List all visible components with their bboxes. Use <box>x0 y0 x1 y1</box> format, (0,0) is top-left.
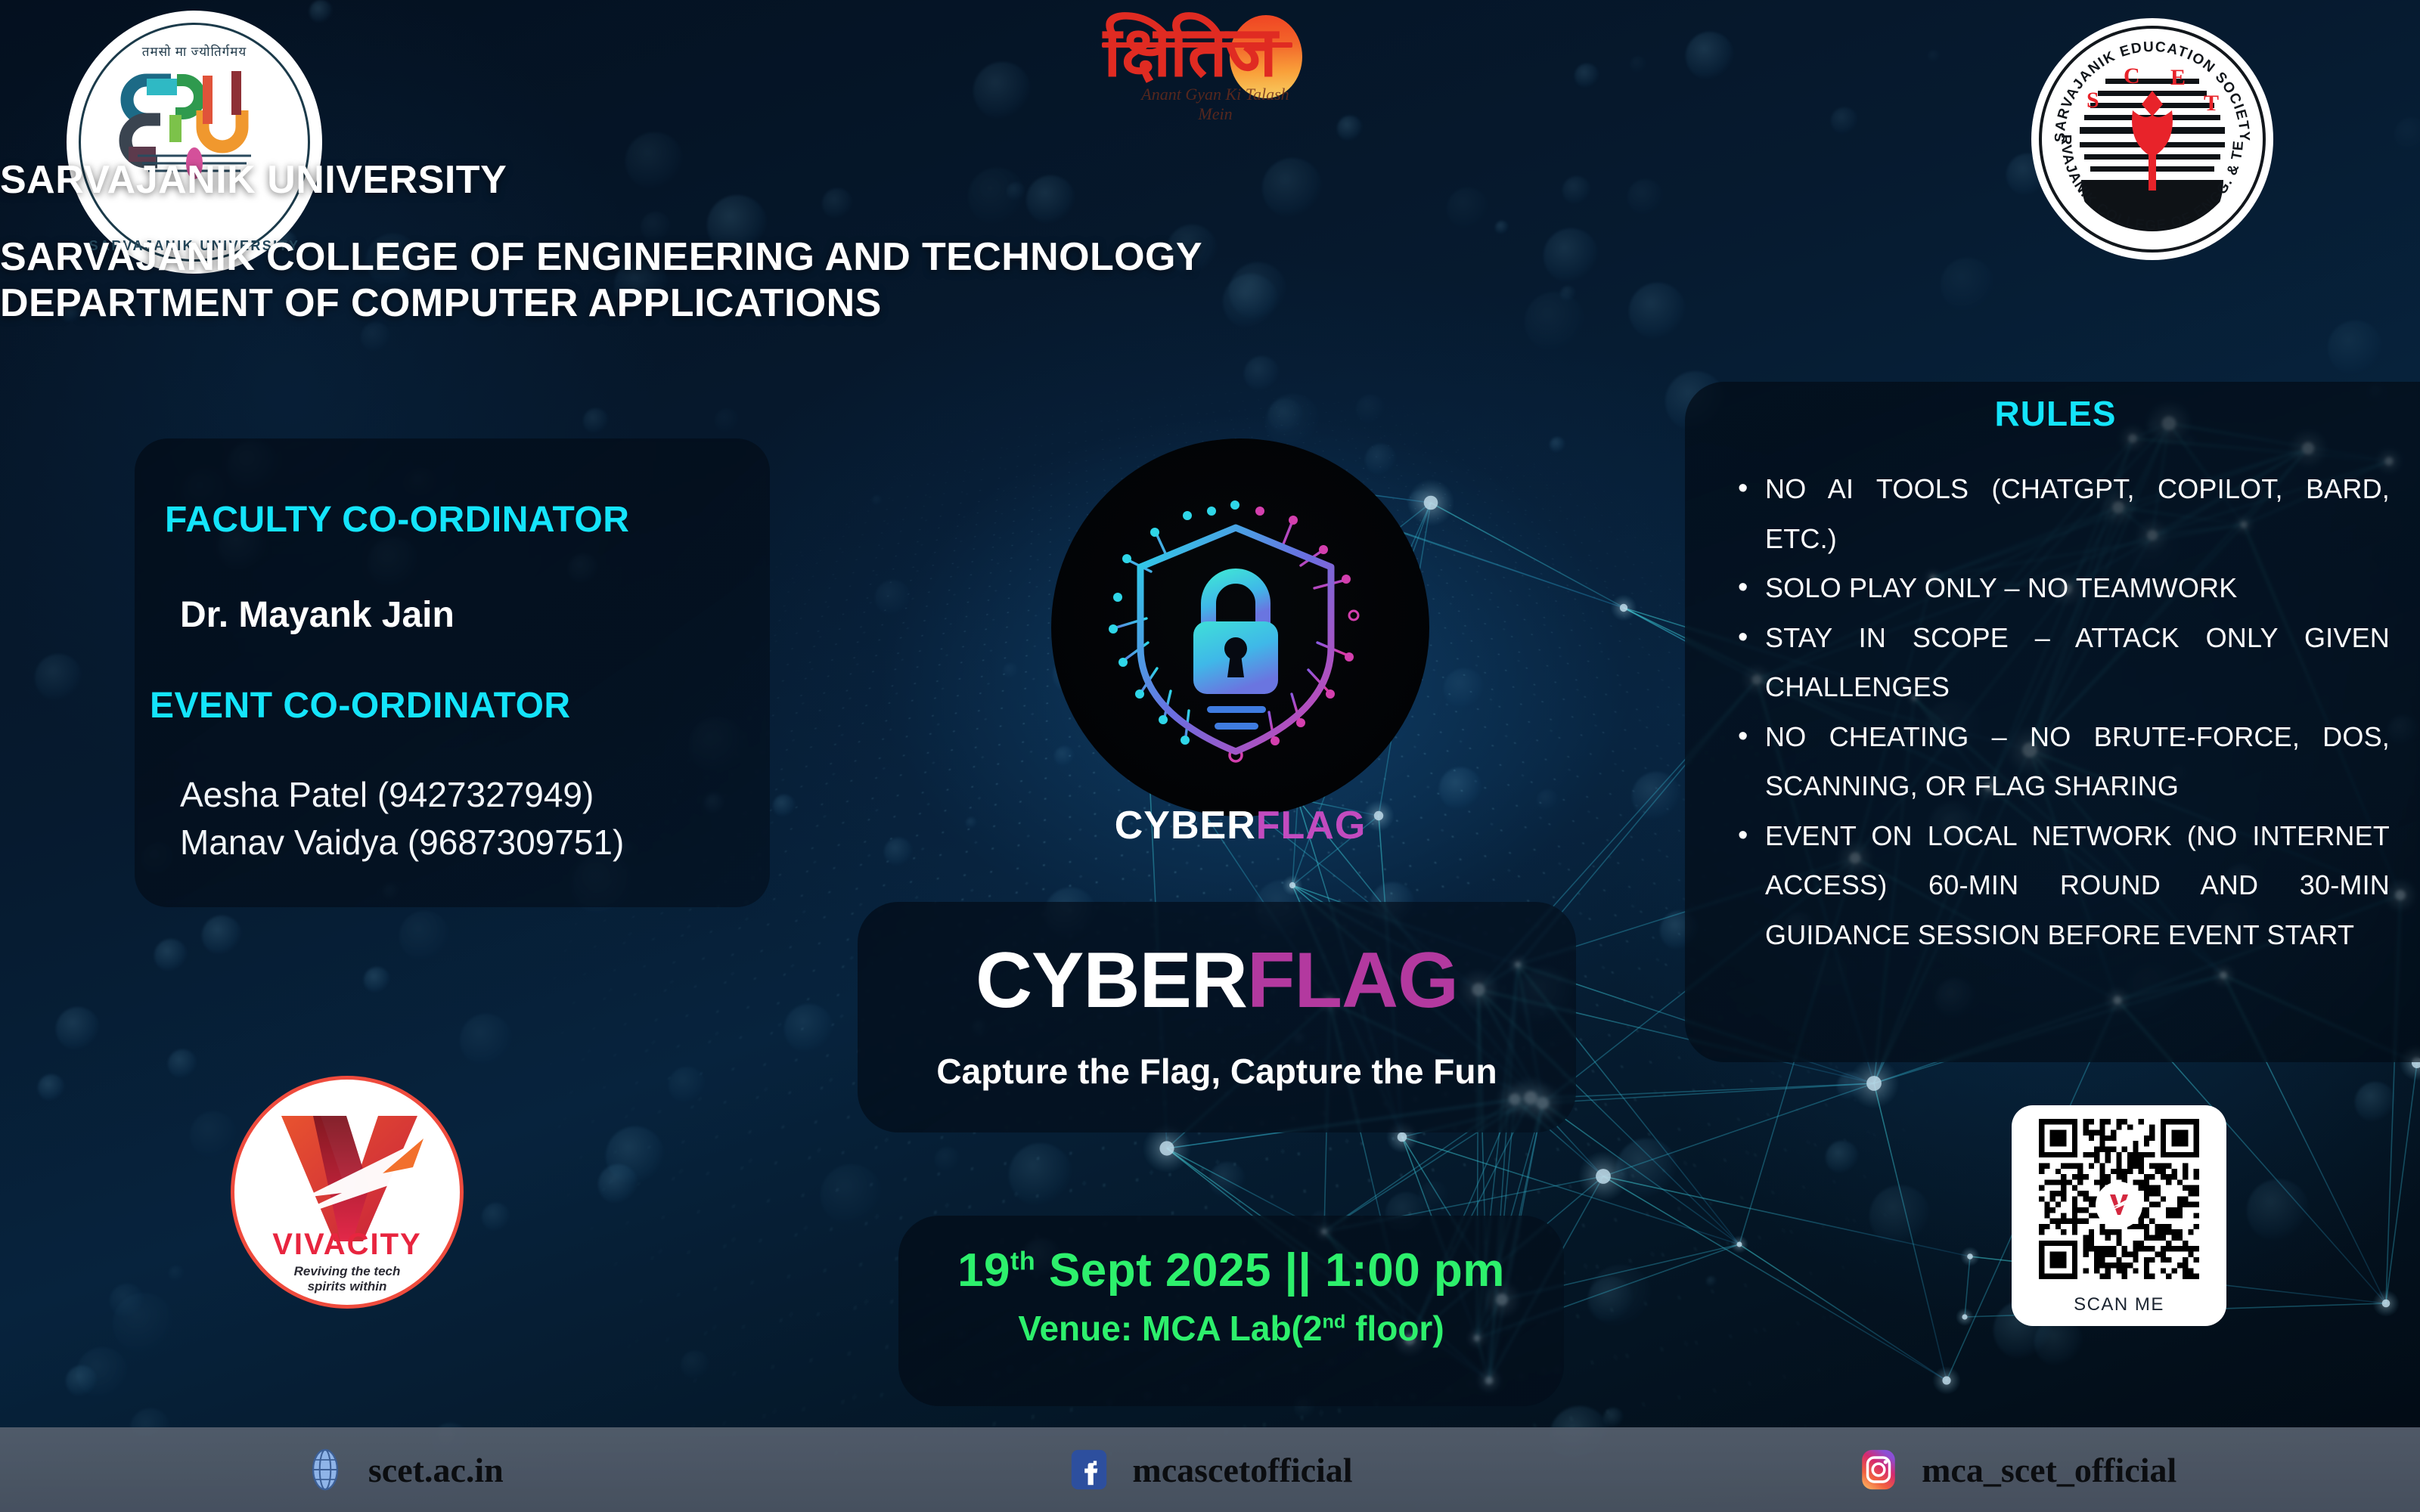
svg-text:S: S <box>2086 88 2099 113</box>
scet-circular-text: SARVAJANIK EDUCATION SOCIETY SARVAJANIK … <box>2031 18 2273 260</box>
kshitij-tagline: Anant Gyan Ki Talash Mein <box>1125 85 1306 124</box>
qr-center-logo <box>2098 1184 2140 1226</box>
faculty-coordinator-name: Dr. Mayank Jain <box>180 594 455 636</box>
rule-item: EVENT ON LOCAL NETWORK (NO INTERNET ACCE… <box>1732 811 2390 960</box>
event-day-suffix: th <box>1010 1247 1035 1275</box>
globe-icon <box>303 1448 347 1492</box>
vivacity-mini-icon <box>2104 1190 2134 1220</box>
event-date-rest: Sept 2025 || 1:00 pm <box>1035 1244 1505 1297</box>
footer-instagram-label: mca_scet_official <box>1922 1450 2176 1490</box>
rules-title: RULES <box>1685 393 2420 434</box>
university-name: SARVAJANIK UNIVERSITY <box>0 157 2420 203</box>
rules-list: NO AI TOOLS (CHATGPT, COPILOT, BARD, ETC… <box>1732 464 2390 959</box>
instagram-icon <box>1857 1448 1900 1492</box>
badge-word-cyber: CYBER <box>1115 804 1256 847</box>
event-subtitle: Capture the Flag, Capture the Fun <box>858 1051 1576 1092</box>
cyberflag-badge: CYBERFLAG <box>1051 438 1429 816</box>
college-department-heading: SARVAJANIK COLLEGE OF ENGINEERING AND TE… <box>0 234 2420 327</box>
scet-top-text: SARVAJANIK EDUCATION SOCIETY <box>2052 39 2252 143</box>
facebook-icon <box>1067 1448 1111 1492</box>
title-word-cyber: CYBER <box>976 937 1247 1024</box>
rule-item: SOLO PLAY ONLY – NO TEAMWORK <box>1732 563 2390 613</box>
qr-code-card[interactable]: SCAN ME <box>2012 1105 2226 1326</box>
svg-text:E: E <box>2170 65 2186 90</box>
rule-item: STAY IN SCOPE – ATTACK ONLY GIVEN CHALLE… <box>1732 613 2390 712</box>
vivacity-tagline-line2: spirits within <box>308 1279 387 1294</box>
vivacity-name: VIVACITY <box>234 1228 460 1262</box>
department-name: DEPARTMENT OF COMPUTER APPLICATIONS <box>0 280 2420 327</box>
badge-word-flag: FLAG <box>1256 804 1367 847</box>
svg-text:SARVAJANIK EDUCATION SOCIETY: SARVAJANIK EDUCATION SOCIETY <box>2052 39 2252 143</box>
event-venue: Venue: MCA Lab(2nd floor) <box>898 1308 1564 1349</box>
shield-lock-icon <box>1051 470 1429 788</box>
venue-floor-suffix: nd <box>1322 1312 1345 1333</box>
kshitij-wordmark: क्षितिज <box>1091 11 1288 95</box>
venue-pre: Venue: MCA Lab(2 <box>1018 1309 1322 1348</box>
su-logo-motto: तमसो मा ज्योतिर्गमय <box>70 42 319 60</box>
sarvajanik-university-logo: तमसो मा ज्योतिर्गमय SARVAJANIK UNIVERSIT… <box>70 14 319 271</box>
vivacity-tagline-line1: Reviving the tech <box>294 1264 401 1278</box>
venue-post: floor) <box>1345 1309 1444 1348</box>
kshitij-fest-logo: क्षितिज Anant Gyan Ki Talash Mein <box>1091 6 1333 104</box>
footer-facebook[interactable]: mcascetofficial <box>807 1448 1614 1492</box>
event-poster: तमसो मा ज्योतिर्गमय SARVAJANIK UNIVERSIT… <box>0 0 2420 1512</box>
svg-text:C: C <box>2124 64 2140 88</box>
badge-wordmark: CYBERFLAG <box>1051 803 1429 848</box>
event-coordinator-title: EVENT CO-ORDINATOR <box>150 685 571 727</box>
college-name: SARVAJANIK COLLEGE OF ENGINEERING AND TE… <box>0 234 2420 280</box>
rule-item: NO AI TOOLS (CHATGPT, COPILOT, BARD, ETC… <box>1732 464 2390 563</box>
event-day: 19 <box>957 1244 1010 1297</box>
svg-text:T: T <box>2204 91 2219 116</box>
event-coordinator-list: Aesha Patel (9427327949) Manav Vaidya (9… <box>180 771 624 866</box>
footer-facebook-label: mcascetofficial <box>1132 1450 1352 1490</box>
rule-item: NO CHEATING – NO BRUTE-FORCE, DOS, SCANN… <box>1732 712 2390 811</box>
footer-website-label: scet.ac.in <box>368 1450 504 1490</box>
footer-bar: scet.ac.in mcascetofficial <box>0 1427 2420 1512</box>
event-title: CYBERFLAG <box>858 936 1576 1026</box>
event-coordinator-2: Manav Vaidya (9687309751) <box>180 819 624 866</box>
footer-website[interactable]: scet.ac.in <box>0 1448 807 1492</box>
footer-instagram[interactable]: mca_scet_official <box>1613 1448 2420 1492</box>
vivacity-tagline: Reviving the tech spirits within <box>234 1264 460 1294</box>
kshitij-underline <box>1102 42 1292 48</box>
vivacity-logo: VIVACITY Reviving the tech spirits withi… <box>234 1080 460 1305</box>
title-word-flag: FLAG <box>1247 937 1458 1024</box>
faculty-coordinator-title: FACULTY CO-ORDINATOR <box>165 499 629 541</box>
event-coordinator-1: Aesha Patel (9427327949) <box>180 771 624 819</box>
qr-caption: SCAN ME <box>2012 1294 2226 1315</box>
scet-logo: SARVAJANIK EDUCATION SOCIETY SARVAJANIK … <box>2031 18 2273 260</box>
event-datetime: 19th Sept 2025 || 1:00 pm <box>898 1244 1564 1297</box>
